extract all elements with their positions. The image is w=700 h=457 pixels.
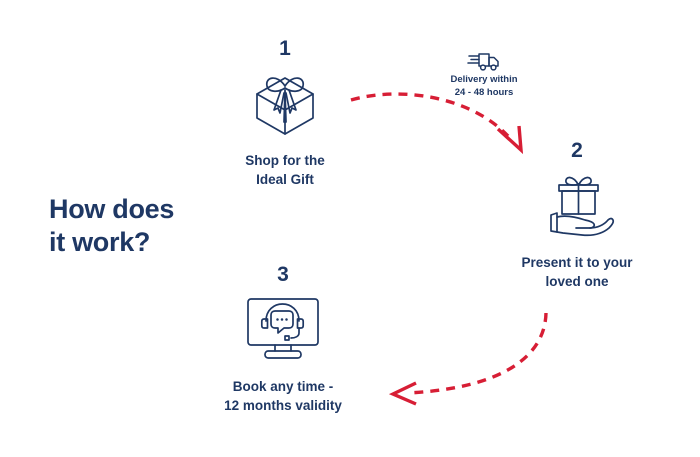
step-1-number: 1 bbox=[211, 38, 359, 59]
step-3-caption-line-1: Book any time - bbox=[209, 377, 357, 396]
delivery-truck-icon bbox=[434, 50, 534, 72]
gift-box-icon bbox=[211, 65, 359, 139]
step-1-caption-line-1: Shop for the bbox=[211, 151, 359, 170]
step-1: 1 Shop for the Ideal bbox=[211, 38, 359, 189]
step-2-number: 2 bbox=[503, 140, 651, 161]
arrow-step1-to-step2 bbox=[351, 94, 521, 150]
step-2-caption-line-1: Present it to your bbox=[503, 253, 651, 272]
step-2: 2 Present it to your bbox=[503, 140, 651, 291]
delivery-note-line-1: Delivery within bbox=[434, 74, 534, 87]
page-title-line-1: How does bbox=[49, 193, 239, 226]
step-1-caption: Shop for the Ideal Gift bbox=[211, 151, 359, 189]
infographic-canvas: How does it work? 1 bbox=[0, 0, 700, 457]
step-2-caption-line-2: loved one bbox=[503, 272, 651, 291]
step-3: 3 bbox=[209, 264, 357, 415]
step-2-caption: Present it to your loved one bbox=[503, 253, 651, 291]
monitor-support-chat-icon bbox=[209, 291, 357, 365]
page-title: How does it work? bbox=[49, 193, 239, 259]
gift-in-hand-icon bbox=[503, 167, 651, 241]
step-3-caption: Book any time - 12 months validity bbox=[209, 377, 357, 415]
delivery-note-text: Delivery within 24 - 48 hours bbox=[434, 74, 534, 99]
arrow-step2-to-step3 bbox=[393, 313, 546, 404]
step-3-number: 3 bbox=[209, 264, 357, 285]
delivery-note: Delivery within 24 - 48 hours bbox=[434, 50, 534, 99]
page-title-line-2: it work? bbox=[49, 226, 239, 259]
delivery-note-line-2: 24 - 48 hours bbox=[434, 87, 534, 100]
step-1-caption-line-2: Ideal Gift bbox=[211, 170, 359, 189]
step-3-caption-line-2: 12 months validity bbox=[209, 396, 357, 415]
